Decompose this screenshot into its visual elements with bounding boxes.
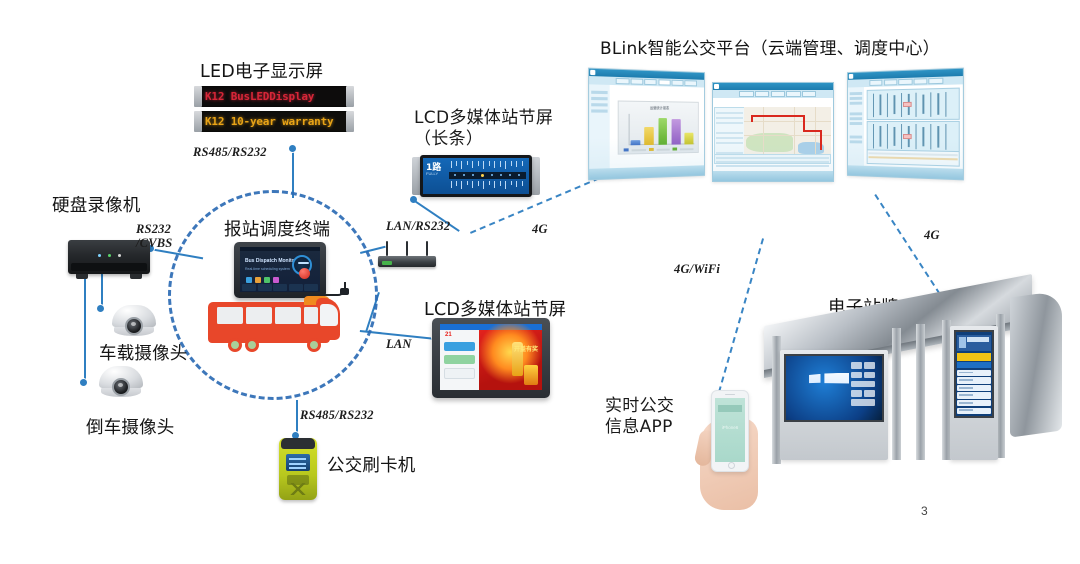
bus-vehicle [208,296,340,352]
led-display-board: K12 BusLEDDisplay K12 10-year warranty [196,86,352,138]
wire-dvr-cam2 [84,272,86,382]
protocol-label-4g-sign: 4G [924,228,940,242]
wire-dot-led [289,145,296,152]
wire-dot-cam1 [97,305,104,312]
onboard-camera-device [112,305,156,339]
shelter-post-mid2 [916,324,925,460]
shelter-display-panel-left [780,350,888,460]
wire-dvr-cam1 [101,272,103,308]
led-line-1: K12 BusLEDDisplay [196,90,314,103]
lcd-strip-label: LCD多媒体站节屏 （长条） [414,108,553,149]
protocol-label-4g-wifi: 4G/WiFi [674,262,720,276]
schedule-grid-upper [867,88,960,121]
lcd-strip-screen: 1路 FULLY [423,158,529,194]
lcd-tick-row-bottom [449,181,527,191]
ad-text: 开盖有奖 [514,344,538,353]
protocol-label-lcd-strip: LAN/RS232 [386,219,450,233]
reverse-camera-device [99,366,143,400]
router-device [378,252,436,266]
platform-monitor-report: 运营统计报表 [588,68,705,181]
phone-device: iPhone6 [711,390,749,472]
dispatch-terminal-device: Bus Dispatch Monitor Real-time schedulin… [234,242,332,300]
page-number: 3 [921,504,928,518]
e-stop-sign-screen[interactable] [954,330,994,418]
card-reader-label: 公交刷卡机 [327,452,416,477]
led-cap-right-2 [346,111,354,132]
bus-shelter [764,292,1064,504]
terminal-screen: Bus Dispatch Monitor Real-time schedulin… [240,247,320,292]
wire-led-hub [292,148,294,198]
lcd-strip-device: 1路 FULLY [412,155,540,197]
terminal-title: Bus Dispatch Monitor [245,258,297,264]
led-line-2: K12 10-year warranty [196,115,333,128]
phone-app-text: iPhone6 [715,425,745,431]
led-row-2: K12 10-year warranty [196,111,352,132]
led-row-1: K12 BusLEDDisplay [196,86,352,107]
lcd-tablet-ad-panel: 开盖有奖 [479,324,542,390]
led-cap-left [194,86,202,107]
card-reader-screen [286,454,310,471]
platform-title: BLink智能公交平台（云端管理、调度中心） [600,34,940,59]
chart-title: 运营统计报表 [619,104,698,110]
smartphone-in-hand: iPhone6 [700,390,762,510]
protocol-label-lcd-tablet: LAN [386,337,412,351]
dispatch-terminal-label: 报站调度终端 [224,216,330,241]
reverse-camera-label: 倒车摄像头 [86,414,175,439]
lcd-tick-row-top [449,161,527,170]
bus-route-line [751,115,805,117]
led-cap-left-2 [194,111,202,132]
link-app-to-cloud [718,238,764,392]
wire-dot-cam2 [80,379,87,386]
card-reader-device [279,438,317,500]
shelter-display-panel-right [950,326,998,460]
dvr-label: 硬盘录像机 [52,192,141,217]
lcd-tablet-device: 21 开盖有奖 [432,318,550,398]
onboard-camera-label: 车载摄像头 [99,340,188,365]
platform-monitor-map [712,82,834,182]
windows-desktop-screen[interactable] [784,354,884,422]
lcd-tablet-info-panel: 21 [440,324,479,390]
led-display-label: LED电子显示屏 [200,58,323,83]
terminal-subtitle: Real-time scheduling system [245,267,290,271]
lcd-tablet-screen: 21 开盖有奖 [440,324,542,390]
terminal-alert-button[interactable] [299,268,310,279]
lcd-route-sub: FULLY [426,171,438,176]
protocol-label-led: RS485/RS232 [193,145,267,159]
lcd-tablet-route-number: 21 [445,332,452,338]
realtime-app-label: 实时公交 信息APP [605,396,674,437]
protocol-label-4g-strip: 4G [532,222,548,236]
lcd-stop-progress-bar [449,172,526,179]
led-cap-right [346,86,354,107]
shelter-post-mid1 [892,328,901,460]
terminal-plug [340,288,349,295]
platform-monitor-schedule [847,68,964,181]
protocol-label-dvr: RS232 /CVBS [136,222,172,250]
network-topology-diagram: LED电子显示屏 K12 BusLEDDisplay K12 10-year w… [0,0,1080,564]
protocol-label-reader: RS485/RS232 [300,408,374,422]
phone-screen: iPhone6 [715,398,745,462]
shelter-back-panel [1010,290,1062,437]
